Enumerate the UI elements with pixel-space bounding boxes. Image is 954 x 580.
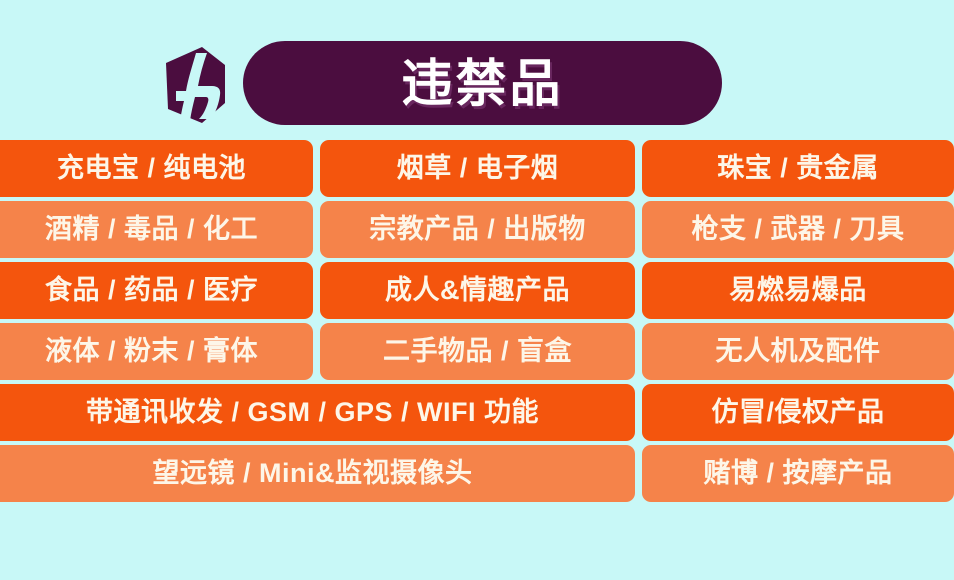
grid-row: 带通讯收发 / GSM / GPS / WIFI 功能 仿冒/侵权产品: [0, 384, 954, 441]
grid-cell-label: 烟草 / 电子烟: [397, 155, 559, 182]
grid-cell: 无人机及配件: [642, 323, 954, 380]
grid-cell-label: 宗教产品 / 出版物: [369, 216, 586, 243]
grid-cell: 烟草 / 电子烟: [320, 140, 635, 197]
grid-cell-label: 二手物品 / 盲盒: [383, 338, 572, 365]
grid-cell-label: 望远镜 / Mini&监视摄像头: [153, 460, 473, 487]
grid-cell: 液体 / 粉末 / 膏体: [0, 323, 313, 380]
grid-cell: 酒精 / 毒品 / 化工: [0, 201, 313, 258]
grid-cell: 易燃易爆品: [642, 262, 954, 319]
grid-cell-label: 赌博 / 按摩产品: [703, 460, 892, 487]
grid-cell: 仿冒/侵权产品: [642, 384, 954, 441]
grid-cell-label: 无人机及配件: [716, 338, 881, 365]
grid-row: 充电宝 / 纯电池 烟草 / 电子烟 珠宝 / 贵金属: [0, 140, 954, 197]
grid-cell-label: 带通讯收发 / GSM / GPS / WIFI 功能: [86, 399, 539, 426]
grid-cell: 枪支 / 武器 / 刀具: [642, 201, 954, 258]
header: 违禁品: [0, 0, 954, 136]
hexagon-h-logo-icon: [162, 45, 230, 125]
grid-row: 酒精 / 毒品 / 化工 宗教产品 / 出版物 枪支 / 武器 / 刀具: [0, 201, 954, 258]
grid-cell-label: 充电宝 / 纯电池: [57, 155, 246, 182]
grid-cell: 食品 / 药品 / 医疗: [0, 262, 313, 319]
grid-cell-label: 液体 / 粉末 / 膏体: [45, 338, 258, 365]
grid-cell: 带通讯收发 / GSM / GPS / WIFI 功能: [0, 384, 635, 441]
grid-row: 液体 / 粉末 / 膏体 二手物品 / 盲盒 无人机及配件: [0, 323, 954, 380]
grid-cell-label: 食品 / 药品 / 医疗: [45, 277, 258, 304]
grid-cell: 望远镜 / Mini&监视摄像头: [0, 445, 635, 502]
grid-cell: 成人&情趣产品: [320, 262, 635, 319]
grid-cell: 充电宝 / 纯电池: [0, 140, 313, 197]
grid-cell-label: 成人&情趣产品: [385, 277, 570, 304]
grid-cell: 二手物品 / 盲盒: [320, 323, 635, 380]
grid-cell-label: 珠宝 / 贵金属: [717, 155, 879, 182]
grid-cell-label: 枪支 / 武器 / 刀具: [691, 216, 904, 243]
grid-row: 望远镜 / Mini&监视摄像头 赌博 / 按摩产品: [0, 445, 954, 502]
grid-cell-label: 酒精 / 毒品 / 化工: [45, 216, 258, 243]
page-title: 违禁品: [401, 58, 563, 109]
page-title-pill: 违禁品: [243, 41, 722, 125]
grid-cell: 赌博 / 按摩产品: [642, 445, 954, 502]
grid-cell: 珠宝 / 贵金属: [642, 140, 954, 197]
grid-row: 食品 / 药品 / 医疗 成人&情趣产品 易燃易爆品: [0, 262, 954, 319]
grid-cell: 宗教产品 / 出版物: [320, 201, 635, 258]
prohibited-items-infographic: 违禁品 充电宝 / 纯电池 烟草 / 电子烟 珠宝 / 贵金属 酒精 / 毒品 …: [0, 0, 954, 580]
grid-cell-label: 易燃易爆品: [729, 277, 867, 304]
grid-cell-label: 仿冒/侵权产品: [711, 399, 884, 426]
prohibited-items-grid: 充电宝 / 纯电池 烟草 / 电子烟 珠宝 / 贵金属 酒精 / 毒品 / 化工…: [0, 140, 954, 508]
